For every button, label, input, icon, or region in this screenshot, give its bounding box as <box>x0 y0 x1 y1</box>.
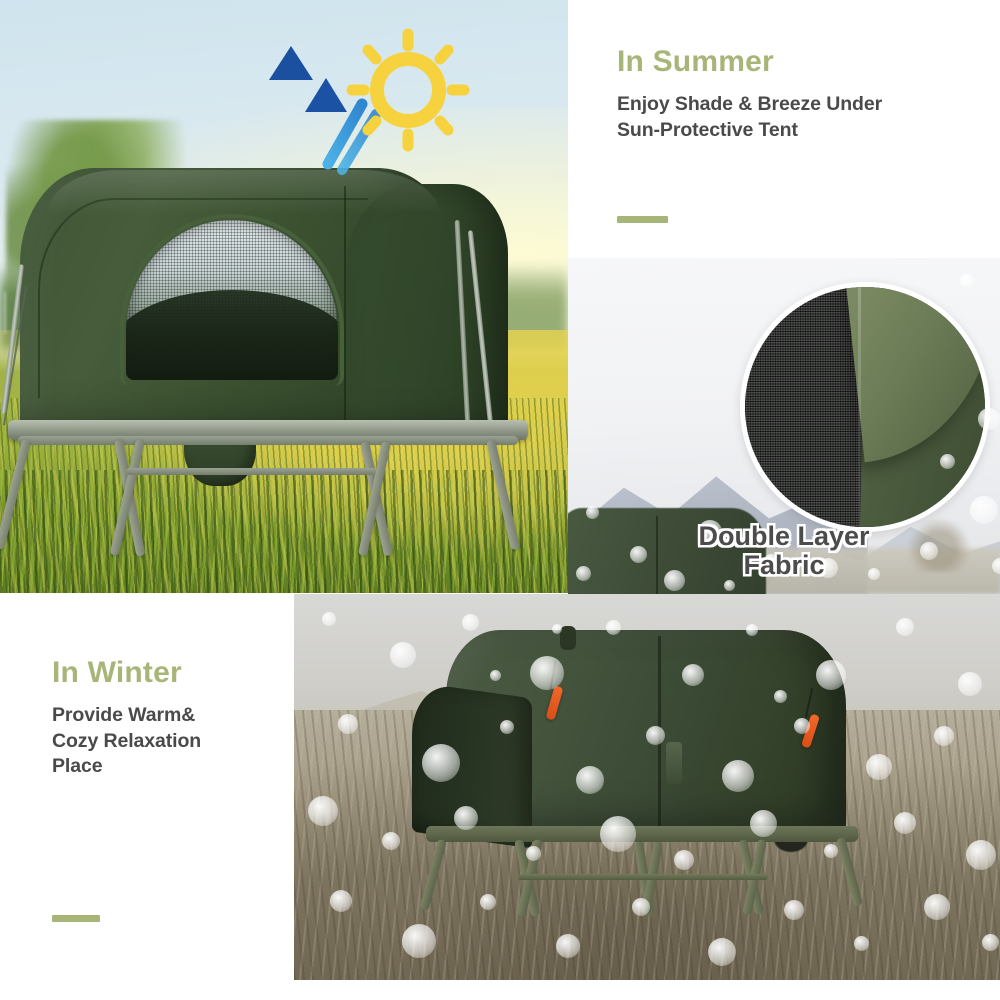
summer-subcopy-line-2: Sun-Protective Tent <box>617 118 987 143</box>
winter-tent <box>422 630 872 890</box>
winter-tent-seam <box>658 636 661 832</box>
winter-eyebrow: In Winter <box>52 655 292 690</box>
winter-tent-side-flap <box>412 682 532 849</box>
fabric-caption-line-2: Fabric <box>568 551 1000 580</box>
winter-cot-cross-brace <box>518 874 768 880</box>
tent-seam-rear <box>344 186 346 432</box>
product-feature-collage: In Summer Enjoy Shade & Breeze Under Sun… <box>0 0 1000 1000</box>
tent-rear-panel <box>346 184 508 434</box>
uv-protection-graphic <box>250 18 476 186</box>
summer-text-block: In Summer Enjoy Shade & Breeze Under Sun… <box>617 44 987 143</box>
double-layer-fabric-detail: Double Layer Fabric <box>568 258 1000 594</box>
winter-tent-photo <box>294 594 1000 980</box>
summer-tent-photo <box>0 0 568 593</box>
sun-icon <box>352 34 464 146</box>
cot-lower-rail <box>18 436 518 445</box>
winter-accent-dash <box>52 915 100 922</box>
winter-text-block: In Winter Provide Warm& Cozy Relaxation … <box>52 655 292 779</box>
uv-reflected-arrow-2 <box>305 78 347 174</box>
summer-accent-dash <box>617 216 668 223</box>
fabric-swatch-circle <box>740 282 990 532</box>
summer-eyebrow: In Summer <box>617 44 987 79</box>
winter-subcopy-line-3: Place <box>52 754 292 779</box>
summer-subcopy: Enjoy Shade & Breeze Under Sun-Protectiv… <box>617 92 987 143</box>
summer-tent <box>8 168 538 528</box>
uv-graphic-svg <box>250 18 476 186</box>
winter-subcopy-line-1: Provide Warm& <box>52 703 292 728</box>
uv-reflected-arrow-1 <box>269 46 313 170</box>
winter-subcopy: Provide Warm& Cozy Relaxation Place <box>52 703 292 779</box>
winter-tent-vent-hood <box>560 626 576 650</box>
cot-cross-brace <box>126 468 376 475</box>
winter-tent-pocket <box>666 742 682 784</box>
fabric-caption-line-1: Double Layer <box>568 522 1000 551</box>
fabric-caption: Double Layer Fabric <box>568 522 1000 580</box>
winter-cot-rail <box>426 826 858 842</box>
fabric-layer-edge <box>858 287 861 527</box>
winter-subcopy-line-2: Cozy Relaxation <box>52 729 292 754</box>
summer-subcopy-line-1: Enjoy Shade & Breeze Under <box>617 92 987 117</box>
